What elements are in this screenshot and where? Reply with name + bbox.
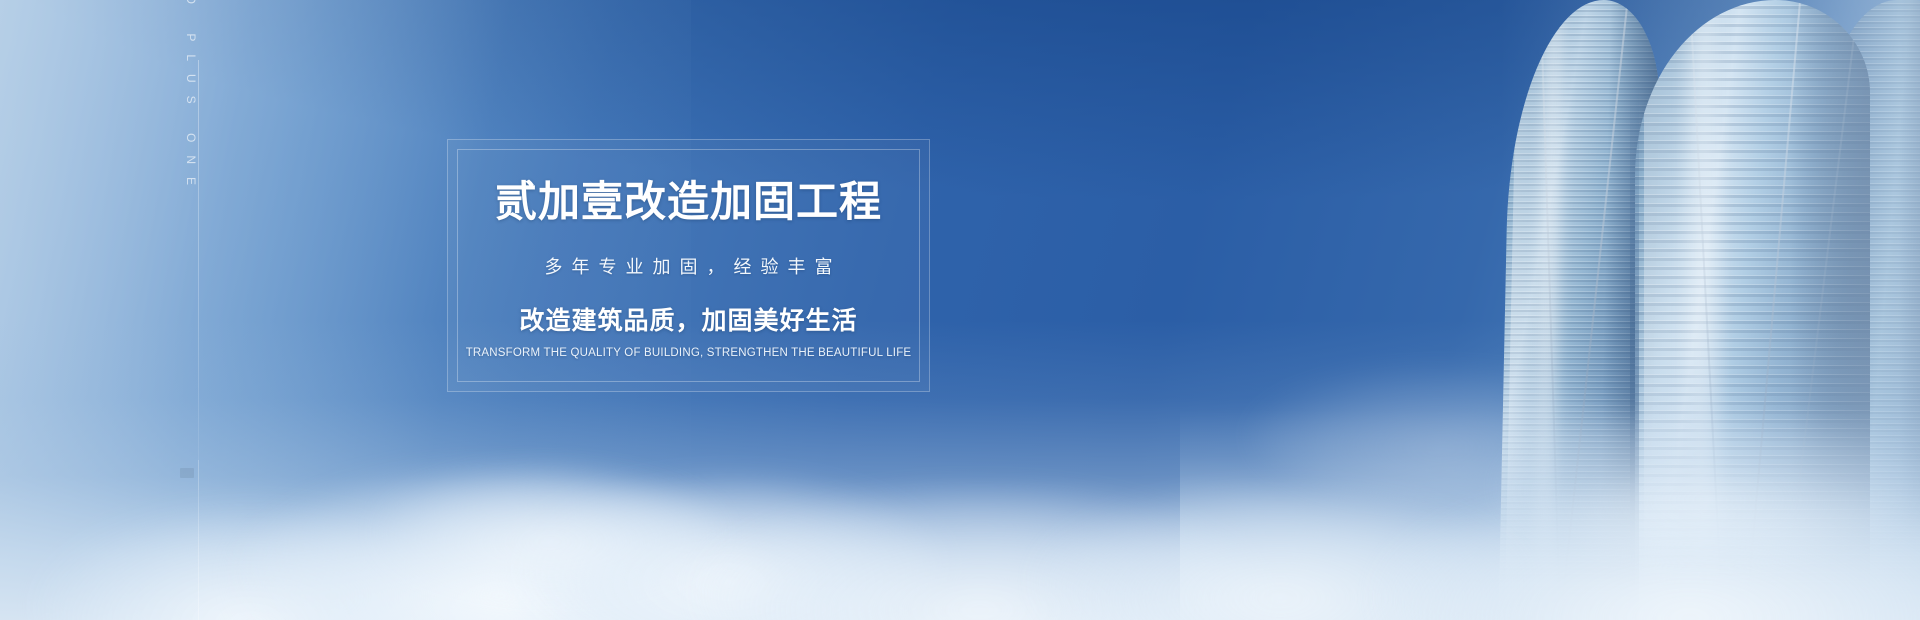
vertical-divider-line [198, 60, 199, 490]
hero-panel-content: 贰加壹改造加固工程 多年专业加固，经验丰富 改造建筑品质，加固美好生活 TRAN… [448, 178, 929, 359]
hero-tagline: 改造建筑品质，加固美好生活 [448, 301, 929, 337]
hero-text-panel: 贰加壹改造加固工程 多年专业加固，经验丰富 改造建筑品质，加固美好生活 TRAN… [447, 139, 930, 392]
corner-accent-mark [180, 468, 194, 478]
hero-subline: 多年专业加固，经验丰富 [448, 253, 929, 279]
cloud-shape [1500, 410, 1920, 560]
vertical-brand-text: TWO PLUS ONE [184, 0, 198, 198]
vertical-divider-line-lower [198, 460, 199, 620]
hero-headline: 贰加壹改造加固工程 [448, 178, 929, 225]
cloud-shape [380, 470, 720, 590]
vertical-brand-mark: TWO PLUS ONE [178, 60, 218, 500]
hero-banner: TWO PLUS ONE 贰加壹改造加固工程 多年专业加固，经验丰富 改造建筑品… [0, 0, 1920, 620]
hero-english-tagline: TRANSFORM THE QUALITY OF BUILDING, STREN… [448, 347, 929, 359]
